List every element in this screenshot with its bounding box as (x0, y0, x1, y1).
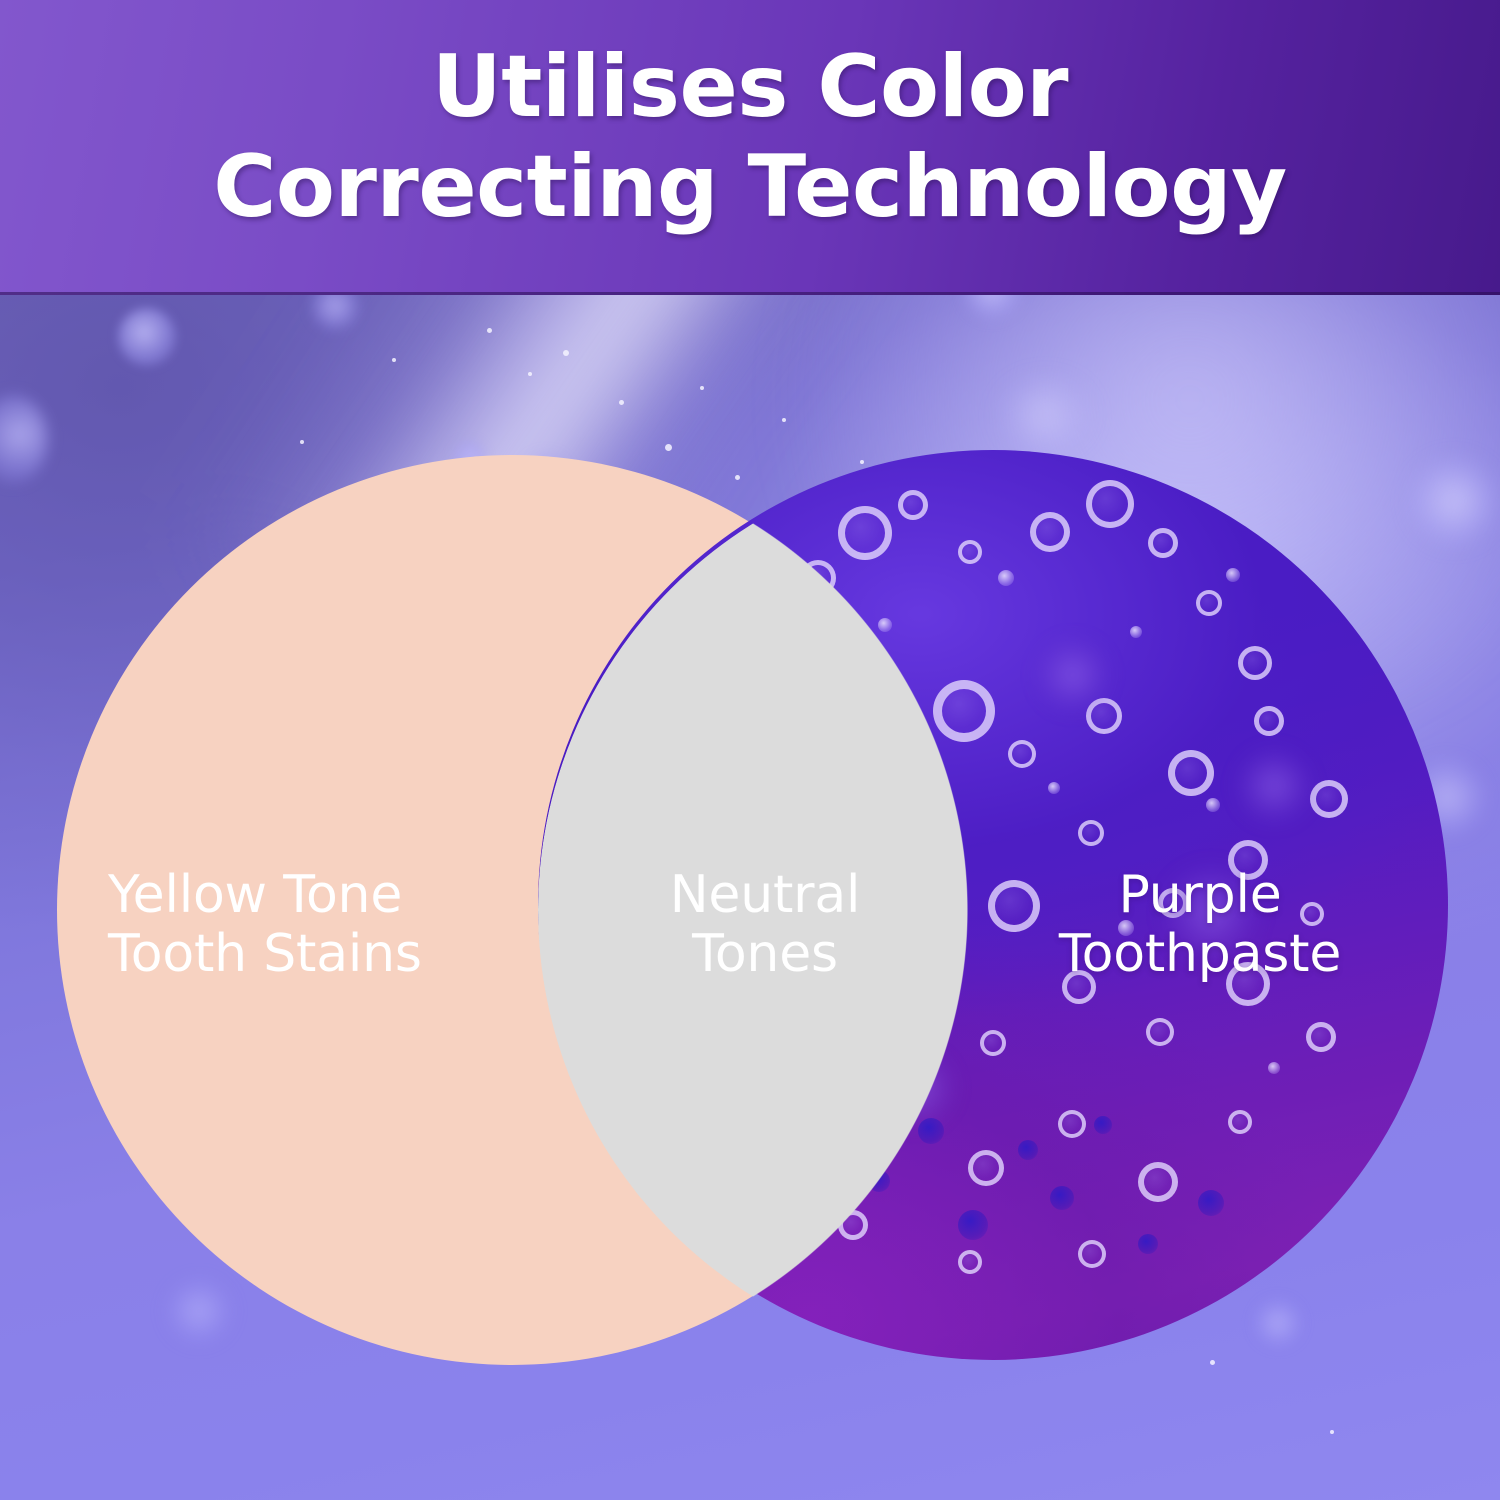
venn-label-yellow-tone: Yellow Tone Tooth Stains (108, 866, 538, 985)
venn-label-purple-toothpaste: Purple Toothpaste (1000, 866, 1400, 985)
venn-label-neutral-tones: Neutral Tones (600, 866, 930, 985)
page-title: Utilises Color Correcting Technology (0, 38, 1500, 238)
header-banner: Utilises Color Correcting Technology (0, 0, 1500, 295)
product-infographic: Utilises Color Correcting Technology (0, 0, 1500, 1500)
